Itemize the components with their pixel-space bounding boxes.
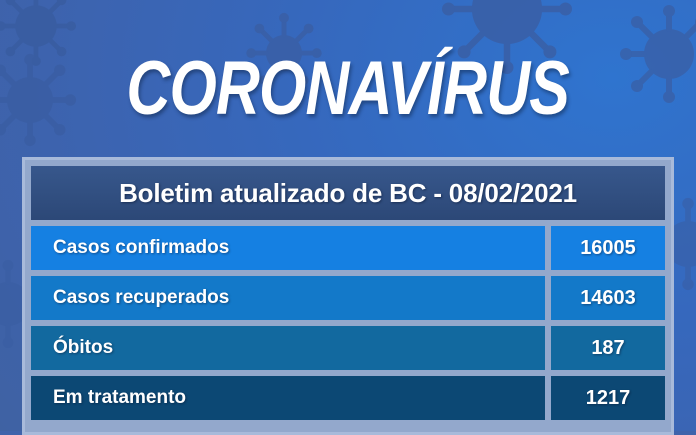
row-label-cell-obitos: Óbitos: [31, 326, 545, 370]
row-value: 1217: [586, 387, 631, 410]
row-label-cell-casos-recuperados: Casos recuperados: [31, 276, 545, 320]
row-label: Óbitos: [53, 337, 113, 359]
bulletin-header-text: Boletim atualizado de BC - 08/02/2021: [119, 178, 577, 209]
row-value: 187: [591, 337, 624, 360]
row-label: Em tratamento: [53, 387, 186, 409]
title-container: CORONAVÍRUS: [0, 50, 696, 128]
bulletin-header: Boletim atualizado de BC - 08/02/2021: [31, 166, 665, 220]
row-value-cell-obitos: 187: [551, 326, 665, 370]
row-value-cell-casos-confirmados: 16005: [551, 226, 665, 270]
bulletin-panel: Boletim atualizado de BC - 08/02/2021 Ca…: [22, 157, 674, 435]
row-value-cell-em-tratamento: 1217: [551, 376, 665, 420]
row-label: Casos recuperados: [53, 287, 229, 309]
table-row: Em tratamento 1217: [31, 376, 665, 420]
row-label-cell-casos-confirmados: Casos confirmados: [31, 226, 545, 270]
row-value: 14603: [580, 287, 636, 310]
bulletin-panel-inner: Boletim atualizado de BC - 08/02/2021 Ca…: [31, 166, 665, 420]
table-row: Óbitos 187: [31, 326, 665, 370]
row-label: Casos confirmados: [53, 237, 229, 259]
row-value: 16005: [580, 237, 636, 260]
table-row: Casos confirmados 16005: [31, 226, 665, 270]
row-label-cell-em-tratamento: Em tratamento: [31, 376, 545, 420]
page-title: CORONAVÍRUS: [127, 50, 570, 128]
row-value-cell-casos-recuperados: 14603: [551, 276, 665, 320]
table-row: Casos recuperados 14603: [31, 276, 665, 320]
